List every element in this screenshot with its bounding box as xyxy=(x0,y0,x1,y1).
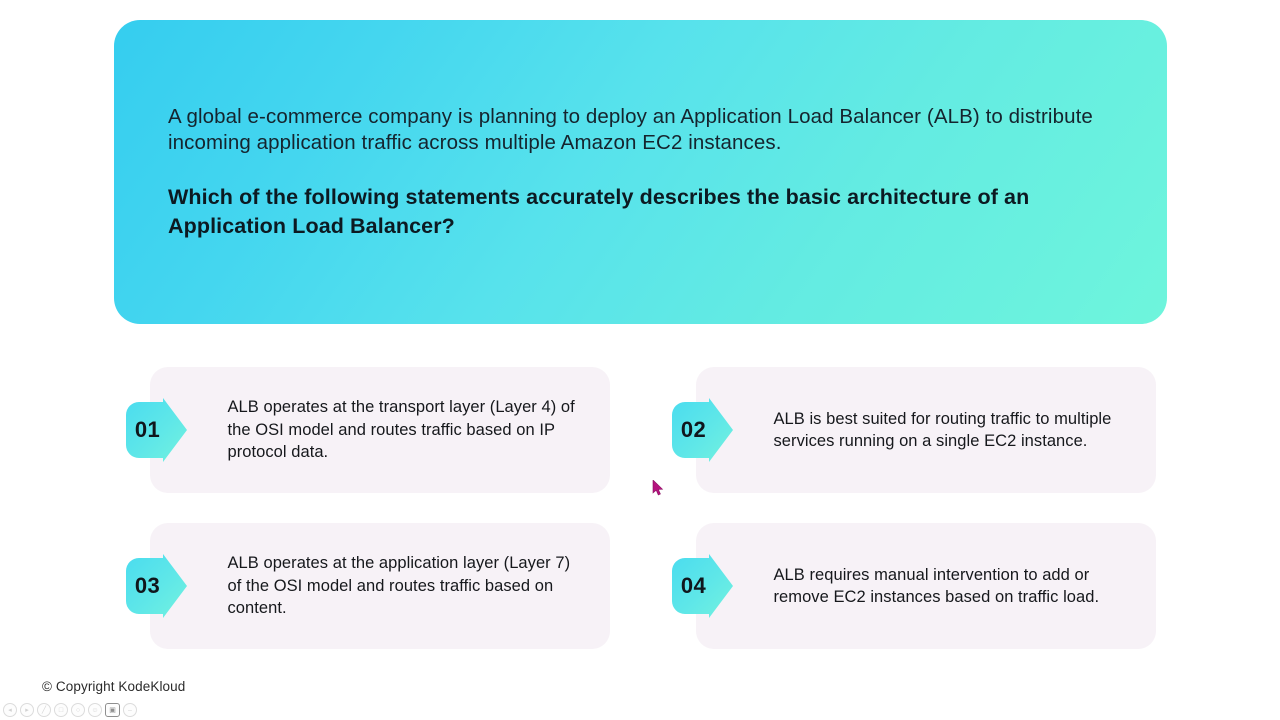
back-icon[interactable]: ◂ xyxy=(3,703,17,717)
answer-text-3: ALB operates at the application layer (L… xyxy=(228,538,584,634)
answer-badge-3: 03 xyxy=(125,553,189,619)
slide-root: A global e-commerce company is planning … xyxy=(0,0,1280,720)
answer-text-2: ALB is best suited for routing traffic t… xyxy=(774,394,1130,467)
answer-option-3[interactable]: ALB operates at the application layer (L… xyxy=(125,523,610,649)
answer-card-1[interactable]: ALB operates at the transport layer (Lay… xyxy=(150,367,610,493)
answer-text-1: ALB operates at the transport layer (Lay… xyxy=(228,382,584,478)
pen-icon[interactable]: ╱ xyxy=(37,703,51,717)
answer-badge-1: 01 xyxy=(125,397,189,463)
question-banner: A global e-commerce company is planning … xyxy=(114,20,1167,324)
emoji-icon[interactable]: ☺ xyxy=(88,703,102,717)
answer-card-4[interactable]: ALB requires manual intervention to add … xyxy=(696,523,1156,649)
answer-option-4[interactable]: ALB requires manual intervention to add … xyxy=(671,523,1156,649)
answer-text-4: ALB requires manual intervention to add … xyxy=(774,550,1130,623)
zoom-icon[interactable]: ○ xyxy=(71,703,85,717)
question-text: Which of the following statements accura… xyxy=(168,183,1113,241)
answer-row-2: ALB operates at the application layer (L… xyxy=(0,523,1280,649)
answer-row-1: ALB operates at the transport layer (Lay… xyxy=(0,367,1280,493)
scenario-text: A global e-commerce company is planning … xyxy=(168,104,1113,156)
answer-options-grid: ALB operates at the transport layer (Lay… xyxy=(0,367,1280,649)
answer-card-2[interactable]: ALB is best suited for routing traffic t… xyxy=(696,367,1156,493)
answer-badge-4: 04 xyxy=(671,553,735,619)
camera-icon[interactable]: ▣ xyxy=(105,703,120,717)
eraser-icon[interactable]: □ xyxy=(54,703,68,717)
answer-number-1: 01 xyxy=(125,417,171,443)
player-toolbar[interactable]: ◂ ▸ ╱ □ ○ ☺ ▣ – xyxy=(3,703,137,717)
answer-card-3[interactable]: ALB operates at the application layer (L… xyxy=(150,523,610,649)
more-icon[interactable]: – xyxy=(123,703,137,717)
answer-number-4: 04 xyxy=(671,573,717,599)
answer-option-2[interactable]: ALB is best suited for routing traffic t… xyxy=(671,367,1156,493)
answer-number-3: 03 xyxy=(125,573,171,599)
copyright-text: © Copyright KodeKloud xyxy=(42,679,185,694)
answer-badge-2: 02 xyxy=(671,397,735,463)
answer-number-2: 02 xyxy=(671,417,717,443)
play-icon[interactable]: ▸ xyxy=(20,703,34,717)
answer-option-1[interactable]: ALB operates at the transport layer (Lay… xyxy=(125,367,610,493)
